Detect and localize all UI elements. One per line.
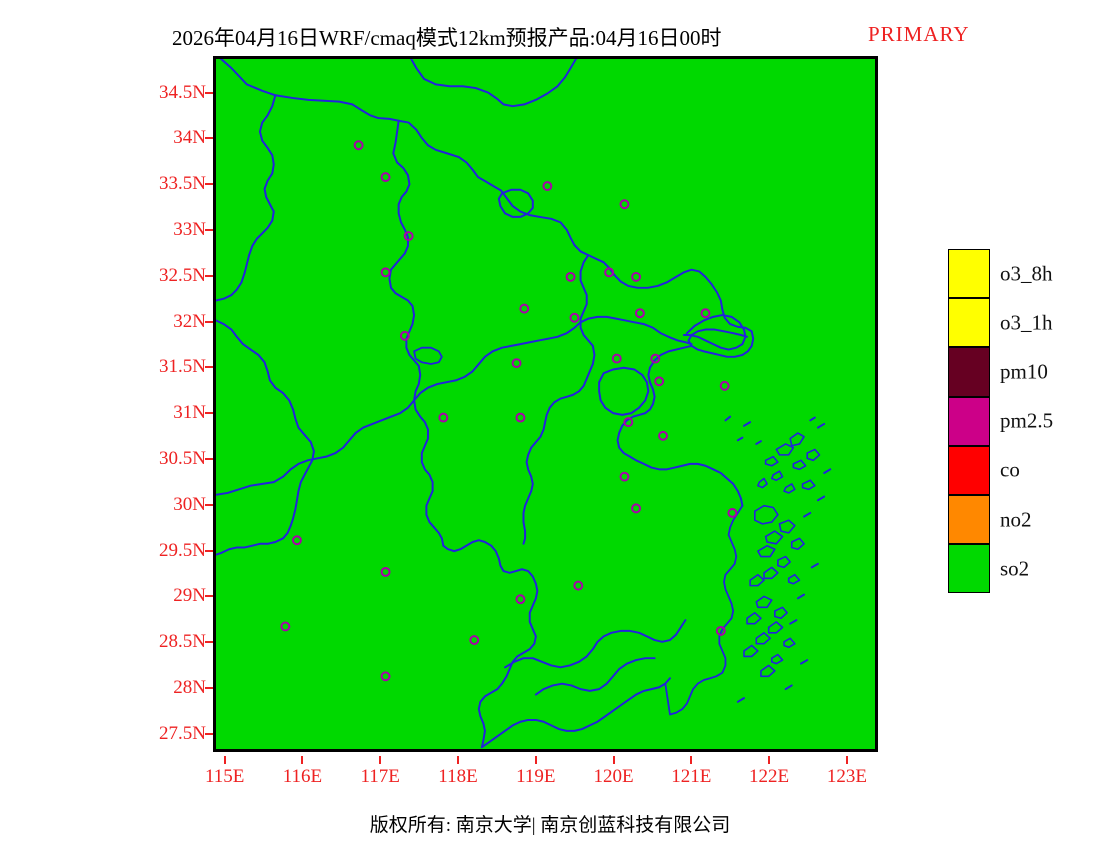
y-axis-tick-mark bbox=[205, 550, 213, 552]
map-canvas bbox=[216, 59, 875, 749]
boundary-line bbox=[778, 557, 790, 568]
pollutant-legend[interactable]: o3_8ho3_1hpm10pm2.5cono2so2 bbox=[948, 249, 1094, 595]
boundary-line bbox=[536, 658, 655, 694]
y-axis-tick-label: 30N bbox=[173, 494, 206, 516]
x-axis-tick-mark bbox=[846, 756, 848, 764]
y-axis-tick-mark bbox=[205, 504, 213, 506]
boundary-line bbox=[824, 469, 830, 473]
boundary-line bbox=[216, 320, 314, 554]
page-title: 2026年04月16日WRF/cmaq模式12km预报产品:04月16日00时 bbox=[172, 22, 722, 52]
boundary-line bbox=[776, 444, 793, 455]
y-axis-tick-mark bbox=[205, 733, 213, 735]
legend-swatch bbox=[948, 298, 990, 347]
title-bar: 2026年04月16日WRF/cmaq模式12km预报产品:04月16日00时 … bbox=[0, 10, 1100, 40]
x-axis-labels: 115E116E117E118E119E120E121E122E123E bbox=[213, 756, 883, 790]
y-axis-tick-label: 33N bbox=[173, 219, 206, 241]
legend-label: pm2.5 bbox=[1000, 409, 1053, 434]
y-axis-tick-label: 28.5N bbox=[159, 631, 206, 653]
x-axis-tick-label: 120E bbox=[593, 766, 633, 788]
station-marker[interactable] bbox=[543, 182, 551, 190]
station-marker[interactable] bbox=[382, 672, 390, 680]
x-axis-tick-label: 115E bbox=[205, 766, 244, 788]
boundary-line bbox=[665, 506, 742, 715]
boundary-line bbox=[790, 433, 804, 446]
boundary-line bbox=[744, 646, 758, 657]
legend-swatch bbox=[948, 446, 990, 495]
y-axis-tick-label: 32.5N bbox=[159, 265, 206, 287]
y-axis-tick-label: 30.5N bbox=[159, 448, 206, 470]
station-marker[interactable] bbox=[382, 173, 390, 181]
copyright-footer: 版权所有: 南京大学| 南京创蓝科技有限公司 bbox=[0, 810, 1100, 837]
station-marker[interactable] bbox=[281, 623, 289, 631]
x-axis-tick-mark bbox=[224, 756, 226, 764]
boundary-line bbox=[793, 460, 805, 469]
legend-swatch bbox=[948, 544, 990, 593]
y-axis-tick-mark bbox=[205, 321, 213, 323]
y-axis-tick-mark bbox=[205, 229, 213, 231]
y-axis-tick-label: 34.5N bbox=[159, 82, 206, 104]
legend-row-so2[interactable]: so2 bbox=[948, 544, 1094, 593]
station-marker[interactable] bbox=[516, 595, 524, 603]
y-axis-tick-mark bbox=[205, 137, 213, 139]
station-marker[interactable] bbox=[721, 382, 729, 390]
station-marker[interactable] bbox=[613, 355, 621, 363]
legend-row-no2[interactable]: no2 bbox=[948, 495, 1094, 544]
station-marker[interactable] bbox=[439, 414, 447, 422]
legend-swatch bbox=[948, 347, 990, 396]
boundary-line bbox=[798, 595, 804, 599]
x-axis-tick-label: 117E bbox=[361, 766, 400, 788]
x-axis-tick-mark bbox=[457, 756, 459, 764]
boundary-line bbox=[216, 95, 275, 300]
boundary-line bbox=[807, 449, 819, 460]
legend-row-o3-8h[interactable]: o3_8h bbox=[948, 249, 1094, 298]
y-axis-tick-mark bbox=[205, 641, 213, 643]
boundary-line bbox=[725, 417, 730, 421]
y-axis-tick-label: 27.5N bbox=[159, 723, 206, 745]
y-axis-tick-label: 28N bbox=[173, 677, 206, 699]
boundary-line bbox=[750, 575, 764, 586]
boundary-line bbox=[738, 438, 743, 441]
legend-row-pm10[interactable]: pm10 bbox=[948, 347, 1094, 396]
boundary-line bbox=[216, 317, 692, 495]
station-marker[interactable] bbox=[655, 377, 663, 385]
y-axis-tick-label: 32N bbox=[173, 311, 206, 333]
boundary-line bbox=[756, 441, 761, 444]
boundary-line bbox=[789, 575, 800, 584]
boundary-line bbox=[772, 471, 783, 480]
station-marker[interactable] bbox=[382, 568, 390, 576]
station-marker[interactable] bbox=[293, 536, 301, 544]
station-marker[interactable] bbox=[632, 504, 640, 512]
y-axis-tick-mark bbox=[205, 366, 213, 368]
x-axis-tick-label: 118E bbox=[438, 766, 477, 788]
station-marker[interactable] bbox=[516, 414, 524, 422]
x-axis-tick-label: 123E bbox=[827, 766, 867, 788]
legend-swatch bbox=[948, 495, 990, 544]
legend-label: so2 bbox=[1000, 556, 1029, 581]
boundary-line bbox=[684, 315, 746, 350]
y-axis-tick-mark bbox=[205, 275, 213, 277]
map-plot-area[interactable] bbox=[213, 56, 878, 752]
boundary-line bbox=[761, 665, 775, 676]
x-axis-tick-label: 119E bbox=[516, 766, 555, 788]
station-marker[interactable] bbox=[621, 473, 629, 481]
y-axis-tick-mark bbox=[205, 412, 213, 414]
station-marker[interactable] bbox=[520, 305, 528, 313]
legend-row-co[interactable]: co bbox=[948, 446, 1094, 495]
boundary-line bbox=[790, 620, 796, 624]
station-marker[interactable] bbox=[636, 309, 644, 317]
station-marker[interactable] bbox=[632, 273, 640, 281]
boundary-line bbox=[812, 564, 818, 568]
station-marker[interactable] bbox=[470, 636, 478, 644]
station-marker[interactable] bbox=[621, 200, 629, 208]
station-marker[interactable] bbox=[513, 359, 521, 367]
y-axis-tick-label: 29.5N bbox=[159, 540, 206, 562]
boundary-line bbox=[772, 655, 783, 664]
boundary-line bbox=[803, 480, 815, 489]
boundary-line bbox=[769, 622, 783, 633]
boundary-line bbox=[409, 59, 582, 106]
y-axis-tick-mark bbox=[205, 183, 213, 185]
boundary-line bbox=[756, 633, 770, 644]
station-marker[interactable] bbox=[701, 309, 709, 317]
boundary-line bbox=[766, 531, 783, 544]
boundary-line bbox=[747, 613, 761, 624]
legend-label: pm10 bbox=[1000, 359, 1048, 384]
boundary-line bbox=[599, 368, 648, 415]
boundary-line bbox=[756, 596, 771, 607]
legend-row-pm2-5[interactable]: pm2.5 bbox=[948, 397, 1094, 446]
y-axis-tick-label: 34N bbox=[173, 127, 206, 149]
boundary-line bbox=[804, 513, 810, 517]
station-marker[interactable] bbox=[355, 141, 363, 149]
boundary-line bbox=[786, 685, 792, 689]
boundary-line bbox=[738, 698, 744, 702]
map-frame bbox=[213, 56, 878, 752]
station-marker[interactable] bbox=[659, 432, 667, 440]
x-axis-tick-mark bbox=[690, 756, 692, 764]
boundary-line bbox=[758, 478, 767, 487]
y-axis-tick-mark bbox=[205, 92, 213, 94]
y-axis-labels: 34.5N34N33.5N33N32.5N32N31.5N31N30.5N30N… bbox=[148, 56, 206, 756]
boundary-line bbox=[818, 424, 824, 428]
x-axis-tick-mark bbox=[613, 756, 615, 764]
legend-swatch bbox=[948, 249, 990, 298]
boundary-line bbox=[744, 422, 750, 426]
station-marker[interactable] bbox=[728, 509, 736, 517]
boundary-line bbox=[755, 506, 778, 524]
boundary-line bbox=[443, 540, 537, 747]
boundary-line bbox=[482, 678, 670, 747]
y-axis-tick-label: 29N bbox=[173, 585, 206, 607]
boundary-line bbox=[792, 538, 804, 549]
boundary-line bbox=[524, 255, 595, 544]
x-axis-tick-mark bbox=[379, 756, 381, 764]
y-axis-tick-mark bbox=[205, 458, 213, 460]
x-axis-tick-mark bbox=[301, 756, 303, 764]
legend-swatch bbox=[948, 397, 990, 446]
station-marker[interactable] bbox=[567, 273, 575, 281]
x-axis-tick-label: 116E bbox=[283, 766, 322, 788]
boundary-line bbox=[818, 497, 824, 501]
y-axis-tick-mark bbox=[205, 687, 213, 689]
legend-label: o3_8h bbox=[1000, 261, 1053, 286]
y-axis-tick-mark bbox=[205, 595, 213, 597]
legend-row-o3-1h[interactable]: o3_1h bbox=[948, 298, 1094, 347]
boundary-line bbox=[784, 638, 795, 647]
boundary-line bbox=[758, 546, 775, 557]
y-axis-tick-label: 33.5N bbox=[159, 173, 206, 195]
x-axis-tick-mark bbox=[768, 756, 770, 764]
x-axis-tick-label: 121E bbox=[671, 766, 711, 788]
boundary-line bbox=[766, 457, 778, 466]
x-axis-tick-mark bbox=[535, 756, 537, 764]
boundary-line bbox=[389, 121, 443, 546]
station-marker[interactable] bbox=[574, 582, 582, 590]
boundary-line bbox=[784, 484, 795, 493]
legend-label: o3_1h bbox=[1000, 310, 1053, 335]
legend-label: no2 bbox=[1000, 507, 1032, 532]
station-marker[interactable] bbox=[382, 268, 390, 276]
station-marker[interactable] bbox=[570, 314, 578, 322]
boundary-line bbox=[801, 660, 807, 664]
x-axis-tick-label: 122E bbox=[749, 766, 789, 788]
boundary-line bbox=[764, 567, 778, 578]
y-axis-tick-label: 31N bbox=[173, 402, 206, 424]
boundary-line bbox=[414, 348, 442, 364]
y-axis-tick-label: 31.5N bbox=[159, 356, 206, 378]
legend-label: co bbox=[1000, 458, 1020, 483]
boundary-line bbox=[810, 418, 815, 421]
primary-pollutant-tag: PRIMARY bbox=[868, 22, 970, 47]
boundary-line bbox=[775, 607, 787, 618]
boundary-line bbox=[779, 520, 794, 533]
